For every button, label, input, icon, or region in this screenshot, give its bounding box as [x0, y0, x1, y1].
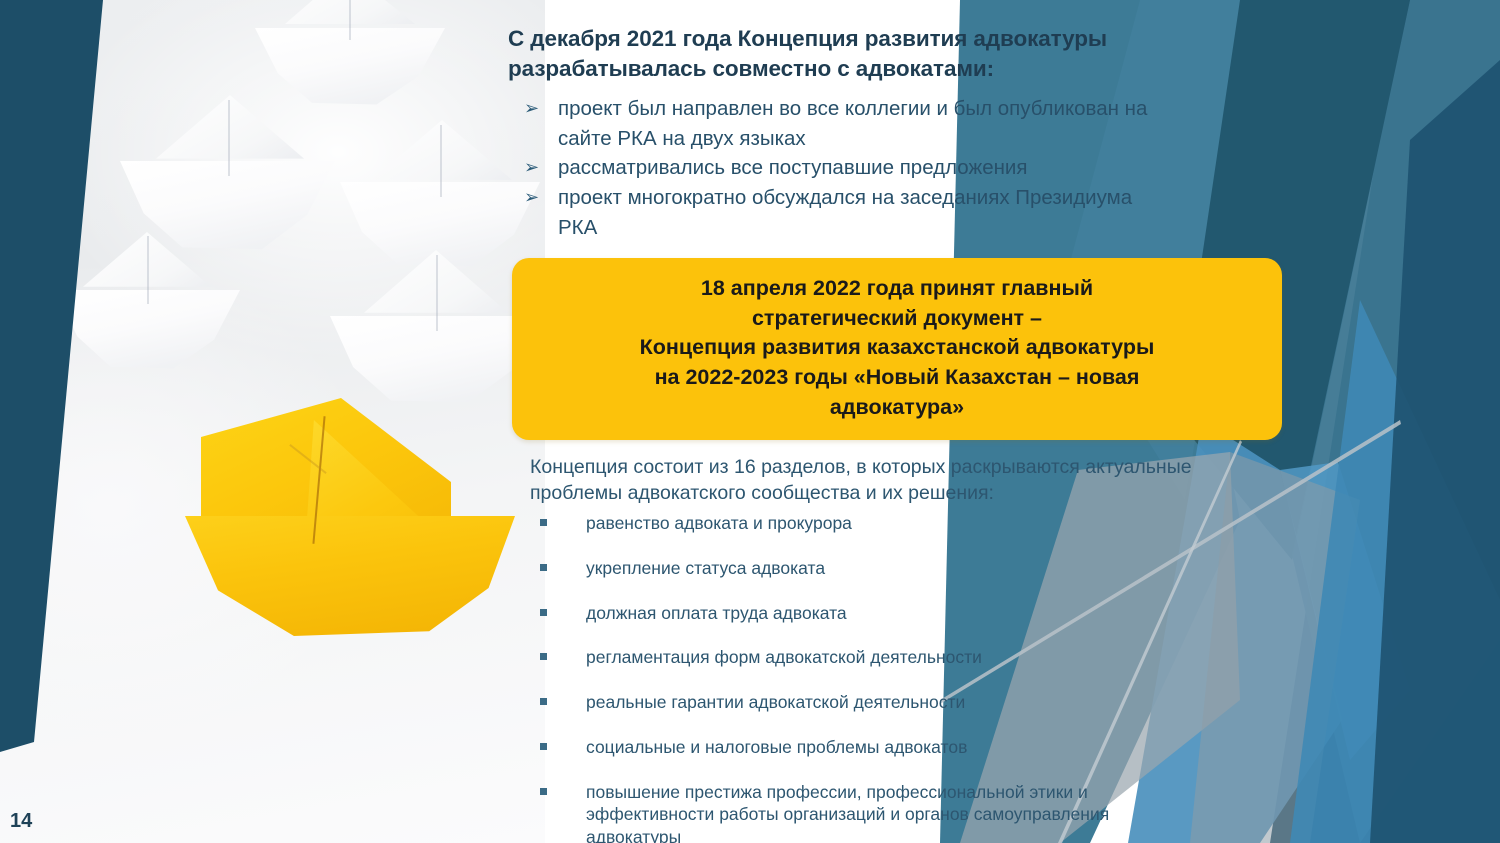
arrow-list-item: ➢ проект многократно обсуждался на засед… — [516, 183, 1176, 242]
arrow-bullet-icon: ➢ — [524, 154, 539, 180]
list-item: реальные гарантии адвокатской деятельнос… — [530, 691, 1206, 714]
square-bullet-icon — [540, 743, 547, 750]
list-item: регламентация форм адвокатской деятельно… — [530, 646, 1206, 669]
square-bullet-icon — [540, 519, 547, 526]
list-item: равенство адвоката и прокурора — [530, 512, 1206, 535]
list-item-text: укрепление статуса адвоката — [586, 558, 825, 578]
slide-heading: С декабря 2021 года Концепция развития а… — [508, 24, 1198, 83]
paper-boats-photo — [0, 0, 545, 843]
arrow-list-item-text: проект был направлен во все коллегии и б… — [558, 97, 1147, 150]
list-item-text: социальные и налоговые проблемы адвокато… — [586, 737, 967, 757]
square-bullet-icon — [540, 788, 547, 795]
list-item: повышение престижа профессии, профессион… — [530, 781, 1206, 843]
square-bullet-icon — [540, 653, 547, 660]
arrow-bullet-icon: ➢ — [524, 95, 539, 121]
yellow-paper-boat — [185, 398, 515, 643]
square-bullet-list: равенство адвоката и прокурора укреплени… — [530, 512, 1206, 843]
list-item-text: регламентация форм адвокатской деятельно… — [586, 647, 982, 667]
callout-line: адвокатура» — [534, 393, 1260, 423]
list-item: социальные и налоговые проблемы адвокато… — [530, 736, 1206, 759]
list-item-text: должная оплата труда адвоката — [586, 603, 847, 623]
list-item-text: равенство адвоката и прокурора — [586, 513, 852, 533]
arrow-list-item-text: проект многократно обсуждался на заседан… — [558, 186, 1132, 239]
arrow-list-item: ➢ проект был направлен во все коллегии и… — [516, 94, 1176, 153]
lead-paragraph: Концепция состоит из 16 разделов, в кото… — [530, 455, 1200, 507]
list-item: укрепление статуса адвоката — [530, 557, 1206, 580]
slide-content: С декабря 2021 года Концепция развития а… — [508, 0, 1208, 843]
arrow-list-item: ➢ рассматривались все поступавшие предло… — [516, 153, 1176, 183]
callout-line: стратегический документ – — [534, 304, 1260, 334]
square-bullet-icon — [540, 698, 547, 705]
list-item: должная оплата труда адвоката — [530, 602, 1206, 625]
arrow-bullet-list: ➢ проект был направлен во все коллегии и… — [516, 94, 1176, 243]
yellow-callout-box: 18 апреля 2022 года принят главный страт… — [512, 258, 1282, 440]
arrow-list-item-text: рассматривались все поступавшие предложе… — [558, 156, 1027, 179]
callout-line: на 2022-2023 годы «Новый Казахстан – нов… — [534, 363, 1260, 393]
list-item-text: повышение престижа профессии, профессион… — [586, 782, 1109, 843]
square-bullet-icon — [540, 564, 547, 571]
presentation-slide: С декабря 2021 года Концепция развития а… — [0, 0, 1500, 843]
arrow-bullet-icon: ➢ — [524, 184, 539, 210]
white-paper-boat — [55, 232, 240, 372]
callout-line: Концепция развития казахстанской адвокат… — [534, 333, 1260, 363]
list-item-text: реальные гарантии адвокатской деятельнос… — [586, 692, 965, 712]
slide-number: 14 — [10, 810, 32, 833]
callout-line: 18 апреля 2022 года принят главный — [534, 274, 1260, 304]
square-bullet-icon — [540, 609, 547, 616]
white-paper-boat — [120, 95, 335, 255]
white-paper-boat — [255, 0, 445, 110]
